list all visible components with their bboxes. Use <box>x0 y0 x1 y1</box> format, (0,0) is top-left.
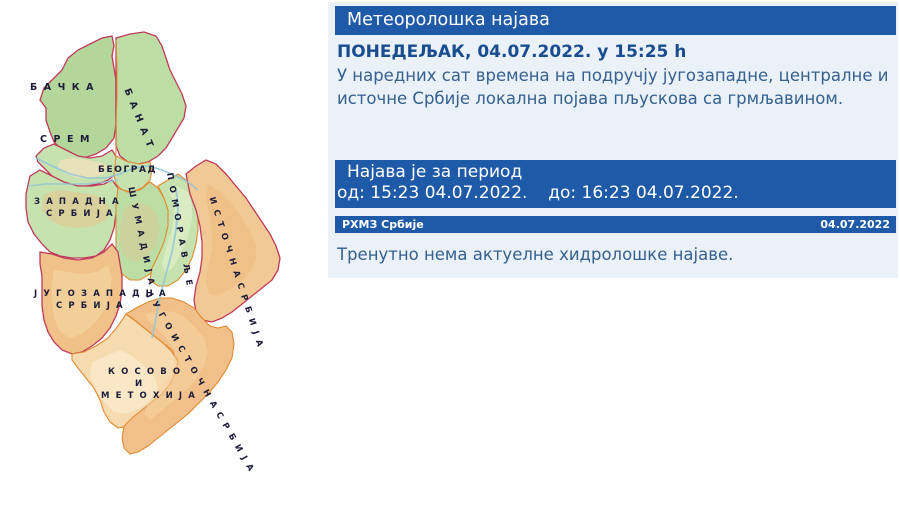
meteo-info-panel: Метеоролошка најава ПОНЕДЕЉАК, 04.07.202… <box>325 0 900 507</box>
period-range: од: 15:23 04.07.2022. до: 16:23 04.07.20… <box>337 183 739 203</box>
rhmz-source-label: РХМЗ Србије <box>342 218 424 231</box>
warning-datetime: ПОНЕДЕЉАК, 04.07.2022. у 15:25 h <box>337 40 897 64</box>
period-from-value: 15:23 04.07.2022. <box>370 183 527 203</box>
rhmz-source-bar: РХМЗ Србије 04.07.2022 <box>335 216 896 233</box>
meteo-header-title: Метеоролошка најава <box>347 10 550 30</box>
period-to-value: 16:23 04.07.2022. <box>582 183 739 203</box>
period-block: Најава је за период од: 15:23 04.07.2022… <box>335 160 896 208</box>
period-title: Најава је за период <box>347 162 522 182</box>
warning-body: ПОНЕДЕЉАК, 04.07.2022. у 15:25 h У наред… <box>337 40 897 110</box>
period-from-label: од: <box>337 183 365 203</box>
serbia-regions-map: Б А Ч К А Б А Н А Т С Р Е М БЕОГРАД З А … <box>0 8 320 478</box>
meteo-header-bar: Метеоролошка најава <box>335 6 896 35</box>
region-backa <box>40 36 116 158</box>
region-banat <box>116 32 186 164</box>
rhmz-date-label: 04.07.2022 <box>820 218 890 231</box>
warning-text: У наредних сат времена на подручју југоз… <box>337 65 893 110</box>
period-to-label: до: <box>548 183 576 203</box>
hydro-status-text: Тренутно нема актуелне хидролошке најаве… <box>337 245 733 264</box>
map-panel: Б А Ч К А Б А Н А Т С Р Е М БЕОГРАД З А … <box>0 0 320 507</box>
